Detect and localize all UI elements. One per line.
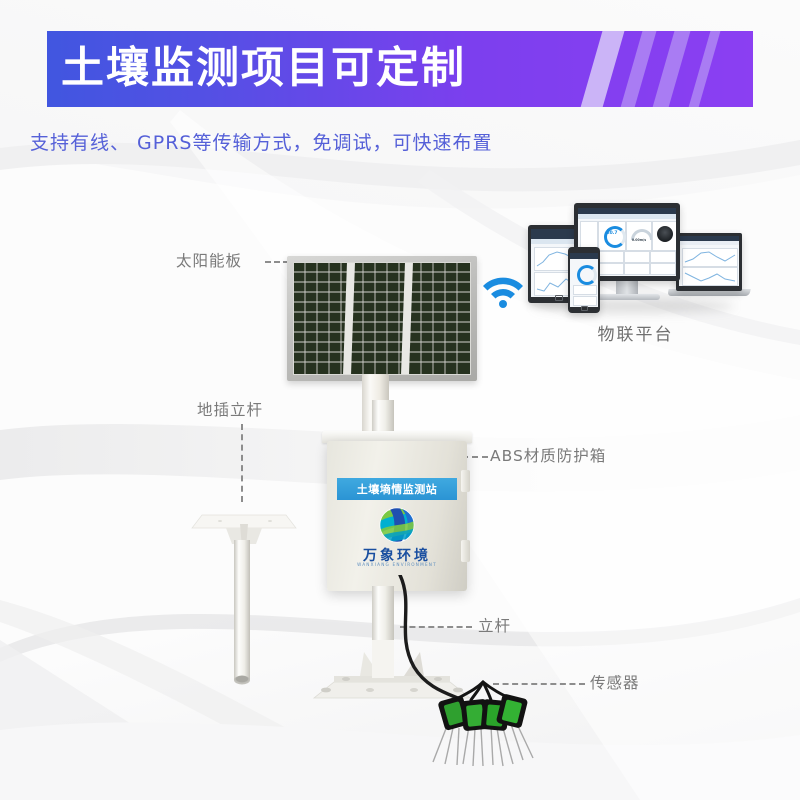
wifi-icon (478, 276, 528, 312)
solar-cell-grid (293, 262, 471, 375)
monitor-compass-dial (657, 226, 673, 242)
monitor-toolbar (578, 214, 676, 219)
monitor-gauge-card: 0.00m/s (626, 221, 652, 251)
monitor-card-f (650, 263, 676, 275)
banner-stripe-3 (648, 31, 695, 107)
laptop-screen (679, 236, 739, 286)
banner-stripe-2 (616, 31, 661, 107)
phone-titlebar (570, 253, 598, 259)
phone-card-2 (573, 296, 597, 306)
phone-screen (570, 253, 598, 307)
page-title: 土壤监测项目可定制 (61, 48, 466, 91)
callout-label-ground-stake: 地插立杆 (197, 398, 263, 420)
callout-label-abs-case: ABS材质防护箱 (490, 444, 606, 466)
monitor-card-d (598, 263, 624, 275)
monitor-donut-value: 80.7 (604, 231, 620, 236)
monitor-card-c (650, 251, 676, 263)
monitor-card-b (624, 251, 650, 263)
iot-platform-devices: 80.7 0.00m/s (528, 195, 743, 315)
enclosure-banner: 土壤墒情监测站 (337, 478, 457, 500)
callout-label-solar-panel: 太阳能板 (176, 249, 242, 271)
monitor-compass-card (652, 221, 676, 251)
monitor-donut-chart (604, 226, 626, 248)
phone-home-button (581, 306, 588, 311)
header-banner: 土壤监测项目可定制 (47, 31, 753, 107)
callout-label-sensor: 传感器 (590, 671, 640, 693)
device-laptop (676, 233, 742, 291)
callout-dash-ground-stake (241, 424, 243, 502)
tablet-home-button (555, 295, 563, 301)
ground-stake (190, 500, 300, 700)
phone-donut-chart (577, 265, 597, 285)
laptop-line-chart-2 (683, 268, 737, 285)
iot-platform-label: 物联平台 (528, 320, 743, 345)
callout-dash-solar-panel (265, 261, 289, 263)
enclosure-latch-lower (461, 540, 470, 562)
monitor-gauge-value: 0.00m/s (631, 238, 647, 242)
monitor-card-a (598, 251, 624, 263)
laptop-line-chart-1 (683, 249, 737, 266)
solar-panel-cells (293, 262, 471, 375)
brand-pinyin: WANXIANG ENVIRONMENT (337, 562, 457, 567)
banner-stripe-1 (576, 31, 629, 107)
enclosure-banner-text: 土壤墒情监测站 (357, 481, 438, 497)
solar-panel (287, 256, 477, 381)
brand-globe-logo (378, 506, 416, 544)
phone-card-1 (573, 285, 597, 295)
soil-sensor-array (425, 680, 545, 770)
enclosure-latch-upper (461, 470, 470, 492)
sensor-probe-4 (496, 693, 528, 728)
monitor-donut-card: 80.7 (598, 221, 626, 251)
device-phone (568, 247, 600, 313)
page-subtitle: 支持有线、 GPRS等传输方式，免调试，可快速布置 (30, 128, 492, 155)
monitor-stand-base (596, 294, 660, 300)
laptop-chart-card-1 (682, 248, 738, 267)
laptop-chart-card-2 (682, 267, 738, 286)
monitor-stand-neck (616, 281, 638, 295)
monitor-card-e (624, 263, 650, 275)
banner-stripe-4 (684, 31, 725, 107)
product-infographic: 土壤监测项目可定制 支持有线、 GPRS等传输方式，免调试，可快速布置 (0, 0, 800, 800)
laptop-toolbar (679, 241, 739, 245)
